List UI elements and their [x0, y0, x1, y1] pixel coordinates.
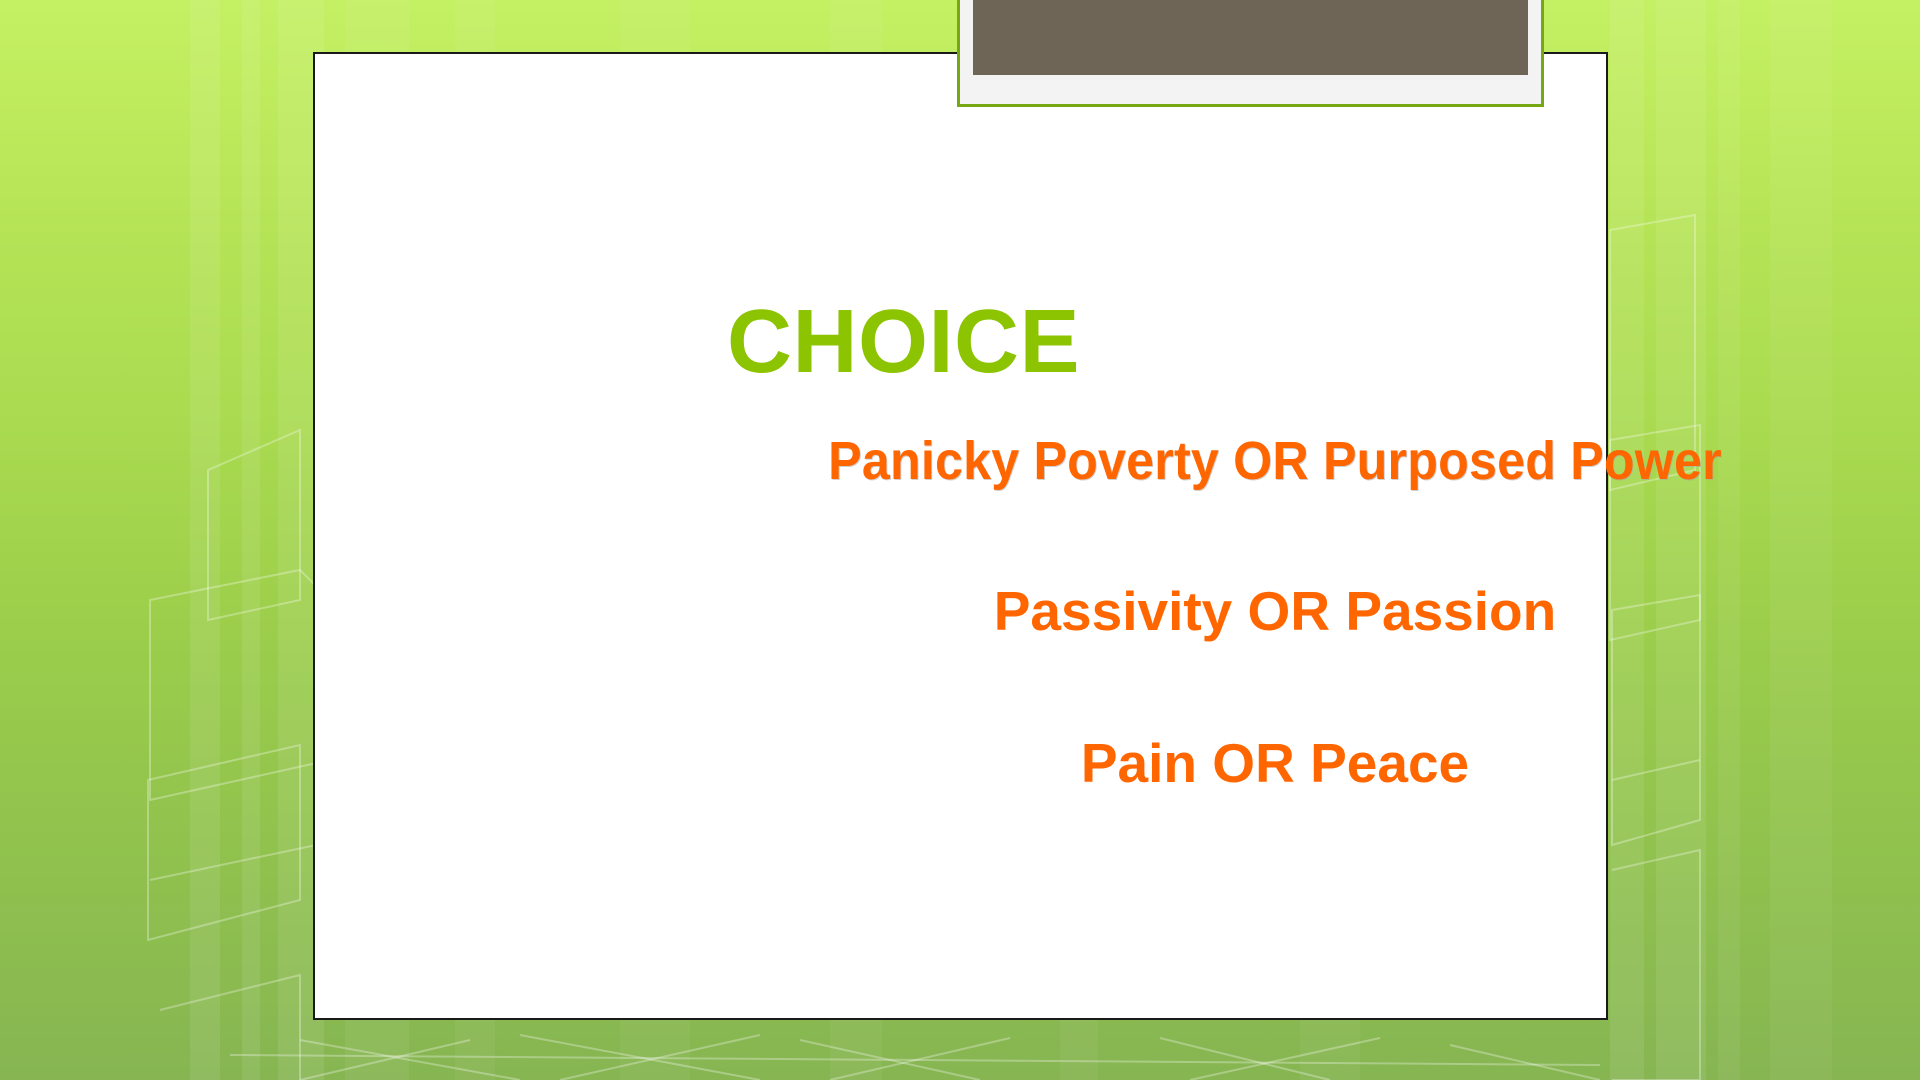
body-line-spacer-1 — [655, 490, 1895, 582]
presentation-slide: CHOICE Panicky Poverty OR Purposed Power… — [0, 0, 1920, 1080]
body-line-3: Pain OR Peace — [655, 734, 1895, 793]
body-line-1: Panicky Poverty OR Purposed Power — [698, 432, 1851, 490]
slide-title: CHOICE — [727, 297, 1080, 387]
slide-body-text: Panicky Poverty OR Purposed Power Passiv… — [655, 432, 1895, 793]
body-line-spacer-2 — [655, 642, 1895, 734]
picture-placeholder-frame[interactable] — [957, 0, 1544, 107]
body-line-2: Passivity OR Passion — [655, 582, 1895, 641]
picture-placeholder-image[interactable] — [973, 0, 1528, 75]
slide-content-card: CHOICE Panicky Poverty OR Purposed Power… — [313, 52, 1608, 1020]
